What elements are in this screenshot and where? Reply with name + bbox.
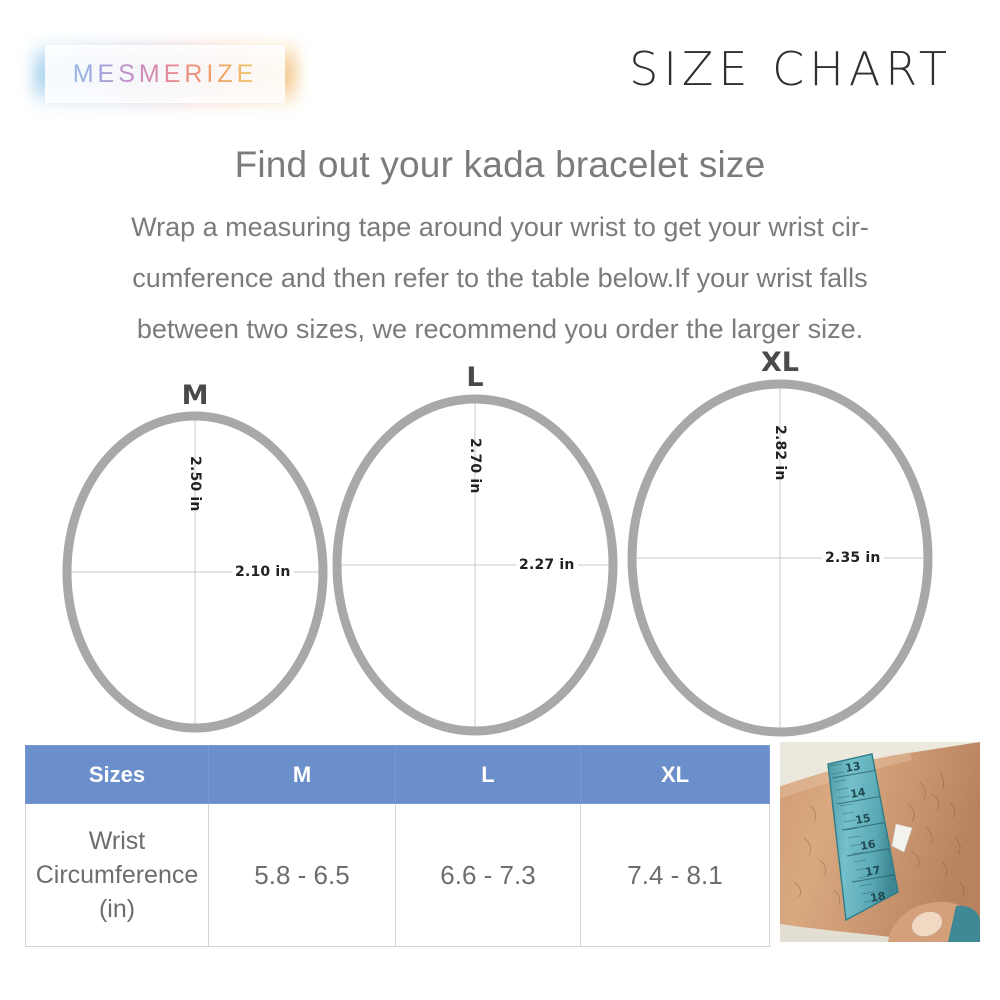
bracelet-diagrams: M 2.50 in 2.10 in L 2.70 in 2.27 in XL 2…	[0, 350, 1000, 740]
row-label-line-2: Circumference	[27, 858, 207, 892]
tape-mark-17: 17	[864, 863, 881, 878]
intro-heading: Find out your kada bracelet size	[0, 140, 1000, 190]
page-title: SIZE CHART	[629, 42, 952, 96]
diagram-m: M 2.50 in 2.10 in	[60, 388, 330, 738]
table-cell-xl: 7.4 - 8.1	[581, 804, 770, 947]
diagram-xl-shape	[625, 353, 935, 743]
wrist-measurement-photo: 13 14 15 16 17 18	[780, 742, 980, 942]
table-row: Wrist Circumference (in) 5.8 - 6.5 6.6 -…	[26, 804, 770, 947]
table-cell-m: 5.8 - 6.5	[209, 804, 396, 947]
brand-logo-text: MESMERIZE	[45, 45, 285, 103]
diagram-xl-width-dim: 2.35 in	[822, 550, 884, 566]
tape-mark-13: 13	[844, 759, 861, 774]
tape-mark-15: 15	[854, 811, 871, 826]
page-header: MESMERIZE SIZE CHART	[0, 0, 1000, 130]
diagram-xl-height-dim: 2.82 in	[772, 425, 788, 481]
intro-section: Find out your kada bracelet size Wrap a …	[0, 140, 1000, 355]
diagram-l-shape	[330, 370, 620, 742]
diagram-m-shape	[60, 388, 330, 738]
tape-mark-16: 16	[859, 837, 877, 853]
table-cell-l: 6.6 - 7.3	[396, 804, 581, 947]
diagram-xl: XL 2.82 in 2.35 in	[625, 353, 935, 743]
row-label-line-3: (in)	[27, 892, 207, 926]
diagram-l-width-dim: 2.27 in	[516, 557, 578, 573]
intro-body: Wrap a measuring tape around your wrist …	[45, 202, 955, 355]
table-header-row: Sizes M L XL	[26, 746, 770, 804]
table-header-l: L	[396, 746, 581, 804]
diagram-m-height-dim: 2.50 in	[187, 456, 203, 512]
brand-logo: MESMERIZE	[45, 45, 285, 103]
wrist-photo-illustration: 13 14 15 16 17 18	[780, 742, 980, 942]
table-header-xl: XL	[581, 746, 770, 804]
tape-mark-14: 14	[849, 785, 867, 801]
table-row-label: Wrist Circumference (in)	[26, 804, 209, 947]
row-label-line-1: Wrist	[27, 824, 207, 858]
diagram-l-height-dim: 2.70 in	[467, 438, 483, 494]
size-table: Sizes M L XL Wrist Circumference (in) 5.…	[25, 745, 770, 947]
intro-line-1: Wrap a measuring tape around your wrist …	[45, 202, 955, 253]
intro-line-2: cumference and then refer to the table b…	[45, 253, 955, 304]
diagram-m-width-dim: 2.10 in	[232, 564, 294, 580]
table-header-m: M	[209, 746, 396, 804]
diagram-l: L 2.70 in 2.27 in	[330, 370, 620, 742]
table-header-sizes: Sizes	[26, 746, 209, 804]
